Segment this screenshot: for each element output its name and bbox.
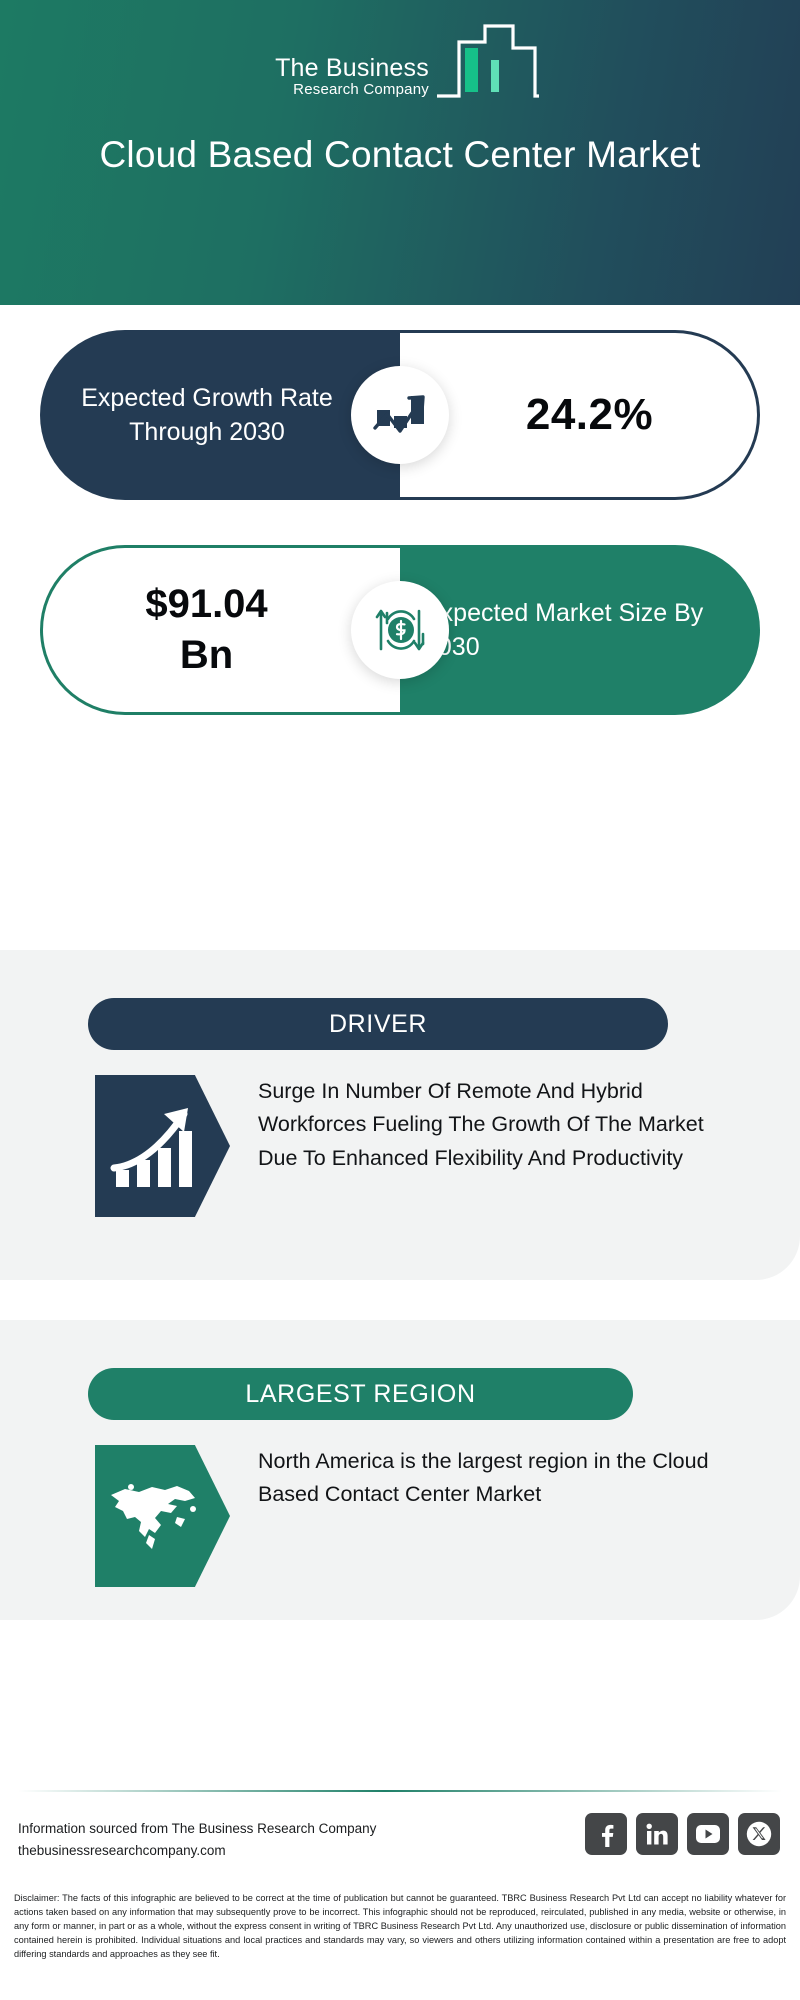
market-size-value-line1: $91.04 [145, 579, 267, 630]
driver-heading: DRIVER [329, 1010, 427, 1039]
market-size-value-line2: Bn [145, 630, 267, 681]
linkedin-icon[interactable] [636, 1813, 678, 1855]
x-twitter-icon[interactable] [738, 1813, 780, 1855]
largest-region-heading: LARGEST REGION [245, 1380, 475, 1409]
logo-subtitle: Research Company [275, 81, 429, 100]
disclaimer-text: Disclaimer: The facts of this infographi… [14, 1892, 786, 1962]
company-logo: The Business Research Company [0, 22, 800, 107]
driver-heading-pill: DRIVER [88, 998, 668, 1050]
market-size-label: Expected Market Size By 2030 [400, 596, 760, 665]
largest-region-text: North America is the largest region in t… [258, 1445, 730, 1512]
driver-body: Surge In Number Of Remote And Hybrid Wor… [95, 1075, 730, 1217]
growth-chart-arrow-icon [95, 1075, 230, 1217]
source-line-1: Information sourced from The Business Re… [18, 1818, 376, 1840]
largest-region-heading-pill: LARGEST REGION [88, 1368, 633, 1420]
infographic-page: The Business Research Company Cloud Base… [0, 0, 800, 2000]
facebook-icon[interactable] [585, 1813, 627, 1855]
largest-region-body: North America is the largest region in t… [95, 1445, 730, 1587]
growth-rate-value: 24.2% [504, 390, 653, 440]
stat-card-growth-rate: Expected Growth Rate Through 2030 24.2% [40, 330, 760, 500]
source-info: Information sourced from The Business Re… [18, 1818, 376, 1862]
market-size-label-half: Expected Market Size By 2030 [400, 545, 760, 715]
bar-chart-arrow-up-icon [351, 366, 449, 464]
footer-divider [18, 1790, 782, 1792]
growth-rate-value-half: 24.2% [400, 330, 760, 500]
logo-title: The Business [275, 55, 429, 81]
source-line-2[interactable]: thebusinessresearchcompany.com [18, 1840, 376, 1862]
market-size-value: $91.04 Bn [145, 579, 297, 681]
growth-rate-label: Expected Growth Rate Through 2030 [40, 381, 400, 450]
largest-region-panel: LARGEST REGION North America is the larg… [0, 1320, 800, 1620]
youtube-icon[interactable] [687, 1813, 729, 1855]
header-banner: The Business Research Company Cloud Base… [0, 0, 800, 305]
growth-rate-label-half: Expected Growth Rate Through 2030 [40, 330, 400, 500]
driver-text: Surge In Number Of Remote And Hybrid Wor… [258, 1075, 730, 1175]
market-size-value-half: $91.04 Bn [40, 545, 400, 715]
stat-card-market-size: $91.04 Bn Expected Market Size By 2030 [40, 545, 760, 715]
bar-chart-logo-mark-icon [427, 22, 545, 107]
page-title: Cloud Based Contact Center Market [80, 132, 720, 177]
dollar-circulation-icon [351, 581, 449, 679]
social-links [585, 1813, 780, 1855]
driver-panel: DRIVER Surge In Number Of Remote And Hyb… [0, 950, 800, 1280]
north-america-map-icon [95, 1445, 230, 1587]
